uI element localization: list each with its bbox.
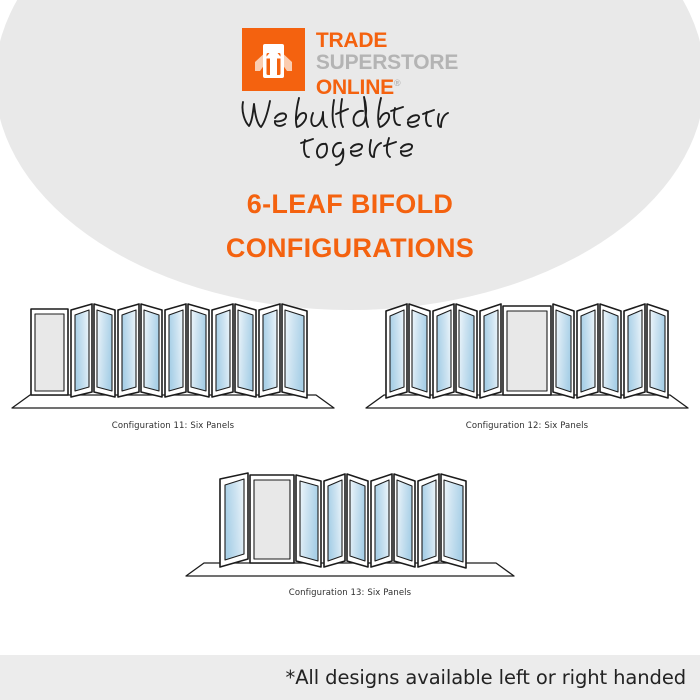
- poster-canvas: TRADE SUPERSTORE ONLINE®: [0, 0, 700, 700]
- logo-text-trade: TRADE: [316, 30, 458, 52]
- footer-bar: *All designs available left or right han…: [0, 655, 700, 700]
- footer-note: *All designs available left or right han…: [286, 666, 700, 689]
- diagram-caption: Configuration 11: Six Panels: [8, 421, 338, 431]
- diagram-config-13: Configuration 13: Six Panels: [180, 468, 520, 616]
- door-house-icon: [242, 28, 305, 91]
- diagram-caption: Configuration 12: Six Panels: [362, 421, 692, 431]
- logo-text-superstore: SUPERSTORE: [316, 52, 458, 74]
- diagram-caption: Configuration 13: Six Panels: [180, 588, 520, 598]
- page-title-line-1: 6-LEAF BIFOLD: [247, 189, 453, 219]
- brand-logo: TRADE SUPERSTORE ONLINE®: [0, 28, 700, 99]
- logo-text-online: ONLINE: [316, 76, 394, 99]
- page-title-line-2: CONFIGURATIONS: [0, 226, 700, 270]
- registered-trademark-icon: ®: [394, 78, 400, 88]
- diagram-config-11: Configuration 11: Six Panels: [8, 298, 338, 448]
- diagram-config-12: Configuration 12: Six Panels: [362, 298, 692, 448]
- page-title: 6-LEAF BIFOLD CONFIGURATIONS: [0, 182, 700, 270]
